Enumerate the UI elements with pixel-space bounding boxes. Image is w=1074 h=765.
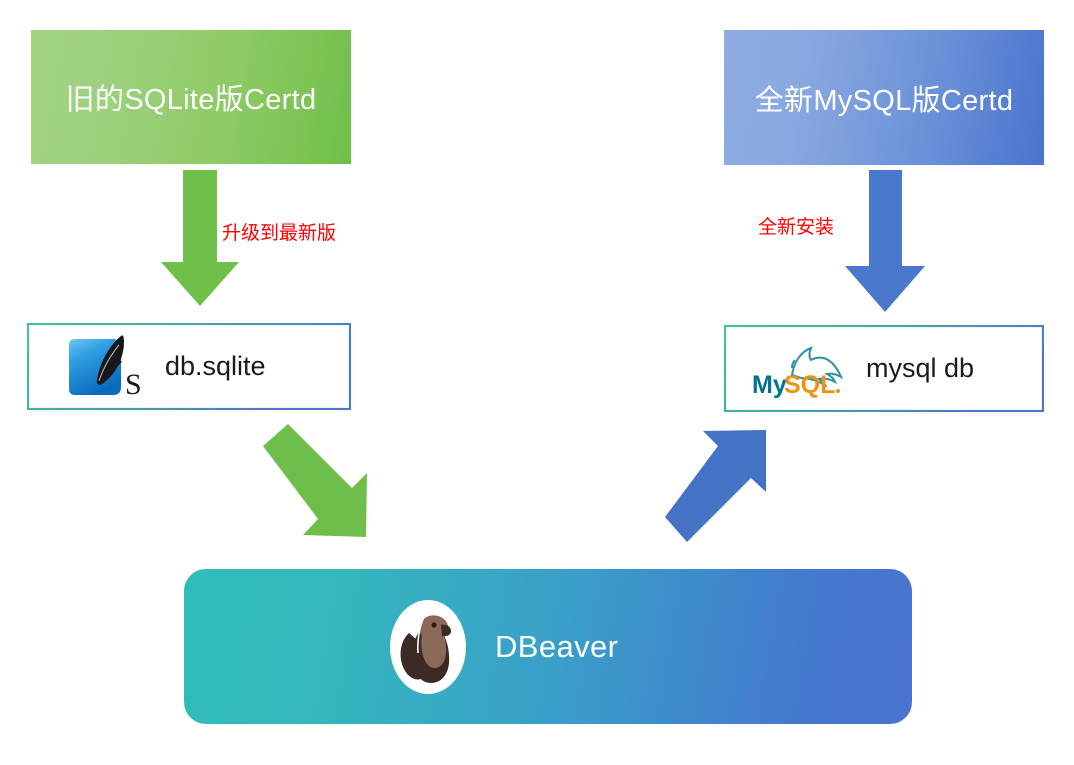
svg-text:My: My [752,371,787,399]
dbeaver-beaver-icon [389,599,467,695]
arrow-blue-down-icon [840,170,930,315]
node-old-sqlite-certd: 旧的SQLite版Certd [31,30,351,164]
svg-text:S: S [125,368,142,400]
node-new-mysql-certd-label: 全新MySQL版Certd [755,77,1014,119]
node-dbeaver: DBeaver [184,569,912,724]
svg-text:SQL: SQL [784,371,835,399]
node-old-sqlite-certd-label: 旧的SQLite版Certd [66,76,317,118]
diagram-canvas: 旧的SQLite版Certd 全新MySQL版Certd 升级到最新版 全新安装 [0,0,1074,765]
node-new-mysql-certd: 全新MySQL版Certd [724,30,1044,165]
node-mysql-db-label: mysql db [866,353,974,384]
mysql-logo-icon: My SQL [746,337,856,401]
sqlite-logo-icon: S [61,332,161,402]
arrow-green-diagonal-icon [248,424,388,549]
edge-label-upgrade: 升级到最新版 [222,218,336,245]
edge-label-fresh-install: 全新安装 [758,212,834,239]
arrow-blue-diagonal-icon [665,428,800,553]
node-dbeaver-label: DBeaver [495,629,618,665]
node-mysql-db: My SQL mysql db [724,325,1044,412]
node-db-sqlite-label: db.sqlite [165,351,266,382]
node-db-sqlite: S db.sqlite [27,323,351,410]
